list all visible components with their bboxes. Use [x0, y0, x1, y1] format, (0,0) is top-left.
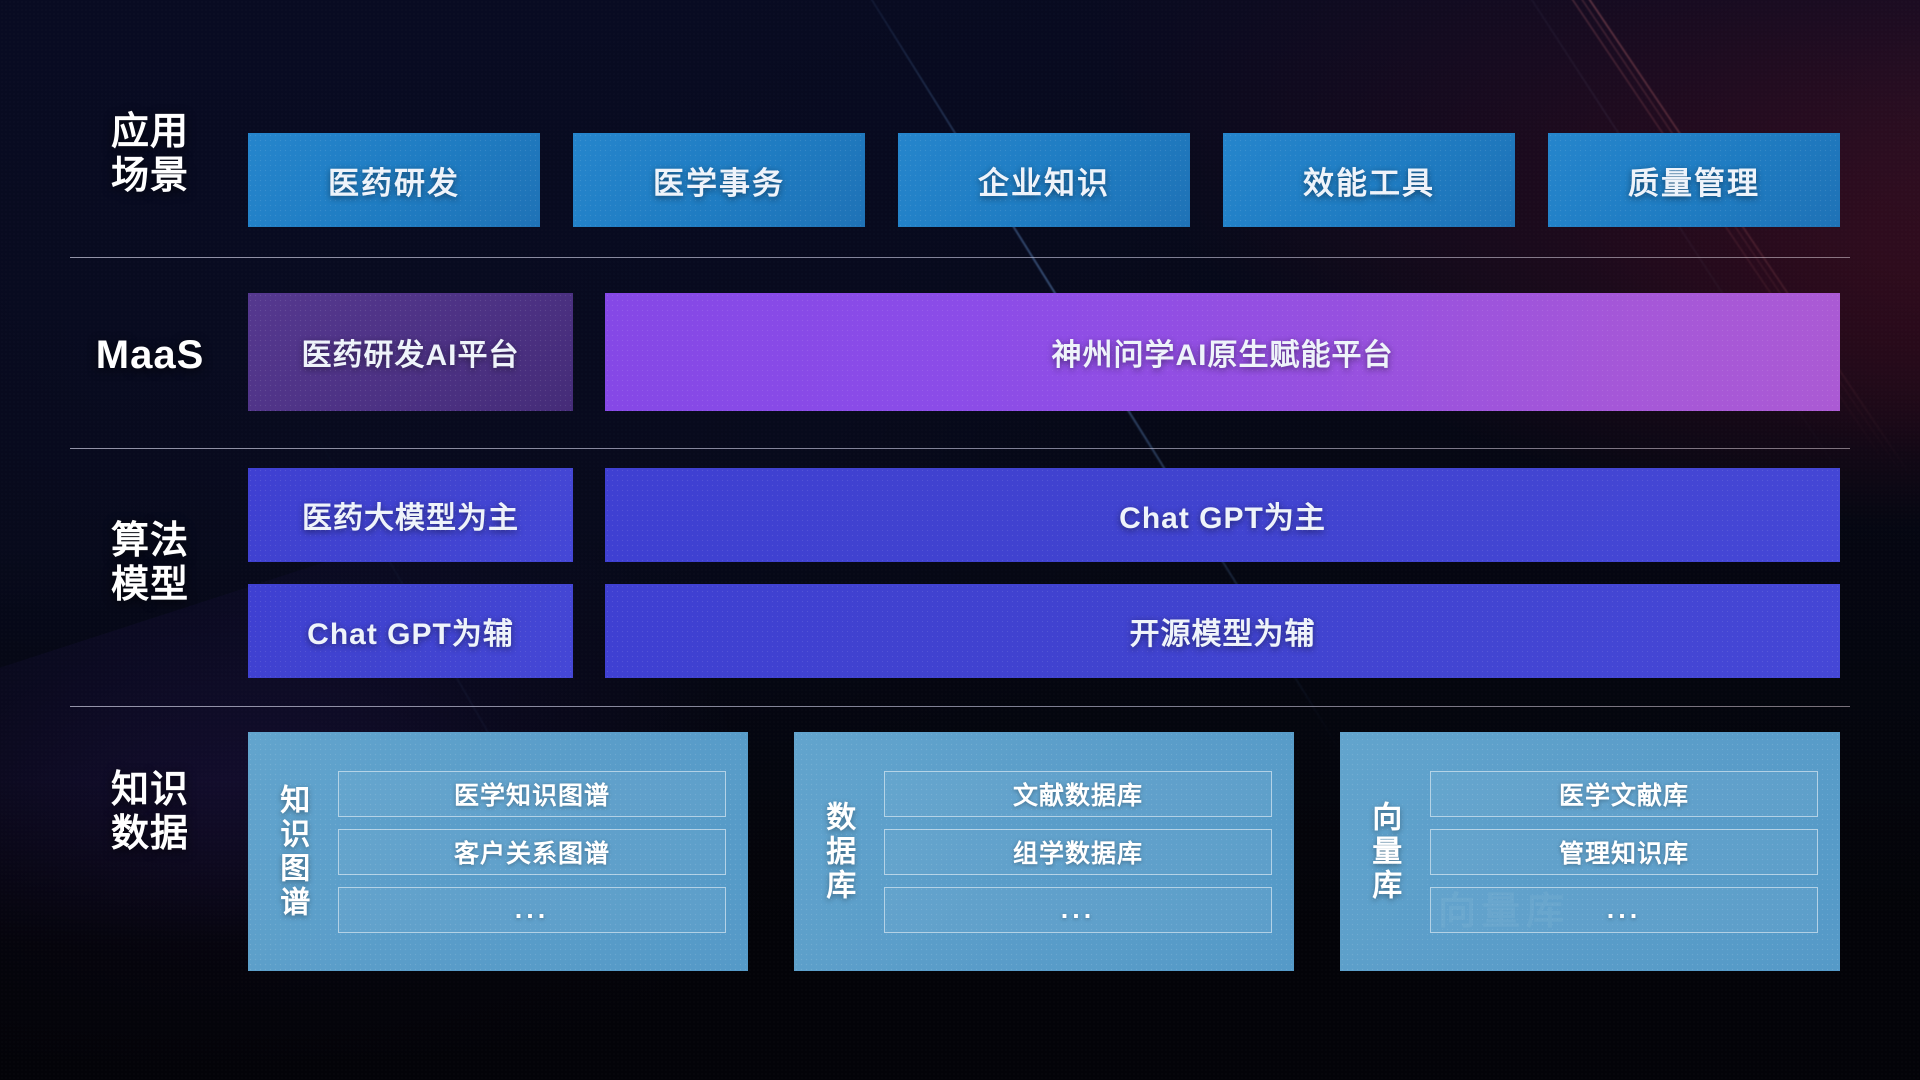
algo-box-label: Chat GPT为辅 [307, 609, 514, 653]
app-box-label: 质量管理 [1628, 158, 1760, 203]
knowledge-item[interactable]: 组学数据库 [884, 829, 1272, 875]
algo-box-label: 医药大模型为主 [302, 493, 519, 537]
knowledge-item-more[interactable]: ... [338, 887, 726, 933]
knowledge-panel-items: 文献数据库 组学数据库 ... [880, 732, 1294, 971]
row-label-line-1: MaaS [75, 332, 225, 378]
divider-algorithm-knowledge [70, 706, 1850, 707]
knowledge-panel-items: 医学知识图谱 客户关系图谱 ... [334, 732, 748, 971]
row-label-line-1: 知识 [75, 768, 225, 812]
knowledge-panel-vector-database[interactable]: 向量库 医学文献库 管理知识库 ... [1340, 732, 1840, 971]
algo-box-chatgpt-secondary[interactable]: Chat GPT为辅 [248, 584, 573, 678]
row-label-maas: MaaS [75, 332, 225, 378]
app-box-medicine-rd[interactable]: 医药研发 [248, 133, 540, 227]
maas-box-label: 神州问学AI原生赋能平台 [1052, 330, 1394, 374]
divider-maas-algorithm [70, 448, 1850, 449]
row-label-line-2: 数据 [75, 812, 225, 856]
knowledge-panel-vertical-label: 知识图谱 [248, 732, 334, 971]
knowledge-item[interactable]: 医学知识图谱 [338, 771, 726, 817]
row-label-line-1: 应用 [75, 110, 225, 154]
app-box-medical-affairs[interactable]: 医学事务 [573, 133, 865, 227]
knowledge-panel-knowledge-graph[interactable]: 知识图谱 医学知识图谱 客户关系图谱 ... [248, 732, 748, 971]
app-box-enterprise-knowledge[interactable]: 企业知识 [898, 133, 1190, 227]
maas-box-label: 医药研发AI平台 [302, 330, 520, 374]
app-box-label: 医学事务 [653, 158, 785, 203]
knowledge-panel-vertical-label: 数据库 [794, 732, 880, 971]
app-box-label: 医药研发 [328, 158, 460, 203]
knowledge-item[interactable]: 客户关系图谱 [338, 829, 726, 875]
app-box-label: 效能工具 [1303, 158, 1435, 203]
row-label-knowledge-data: 知识 数据 [75, 768, 225, 856]
app-box-label: 企业知识 [978, 158, 1110, 203]
row-label-algorithm-model: 算法 模型 [75, 519, 225, 607]
app-box-efficiency-tools[interactable]: 效能工具 [1223, 133, 1515, 227]
maas-box-shenzhou-wenxue-platform[interactable]: 神州问学AI原生赋能平台 [605, 293, 1840, 411]
knowledge-item[interactable]: 文献数据库 [884, 771, 1272, 817]
knowledge-panel-vertical-label: 向量库 [1340, 732, 1426, 971]
algo-box-pharma-llm-primary[interactable]: 医药大模型为主 [248, 468, 573, 562]
row-label-line-2: 模型 [75, 563, 225, 607]
row-label-line-1: 算法 [75, 519, 225, 563]
knowledge-panel-database[interactable]: 数据库 文献数据库 组学数据库 ... [794, 732, 1294, 971]
divider-application-maas [70, 257, 1850, 258]
app-box-quality-management[interactable]: 质量管理 [1548, 133, 1840, 227]
knowledge-item[interactable]: 医学文献库 [1430, 771, 1818, 817]
row-label-application-scenarios: 应用 场景 [75, 110, 225, 198]
algo-box-label: 开源模型为辅 [1130, 609, 1316, 653]
knowledge-item-more[interactable]: ... [1430, 887, 1818, 933]
knowledge-item-more[interactable]: ... [884, 887, 1272, 933]
row-label-line-2: 场景 [75, 154, 225, 198]
algo-box-opensource-secondary[interactable]: 开源模型为辅 [605, 584, 1840, 678]
knowledge-panel-items: 医学文献库 管理知识库 ... [1426, 732, 1840, 971]
maas-box-pharma-ai-platform[interactable]: 医药研发AI平台 [248, 293, 573, 411]
algo-box-chatgpt-primary[interactable]: Chat GPT为主 [605, 468, 1840, 562]
knowledge-item[interactable]: 管理知识库 [1430, 829, 1818, 875]
algo-box-label: Chat GPT为主 [1119, 493, 1326, 537]
